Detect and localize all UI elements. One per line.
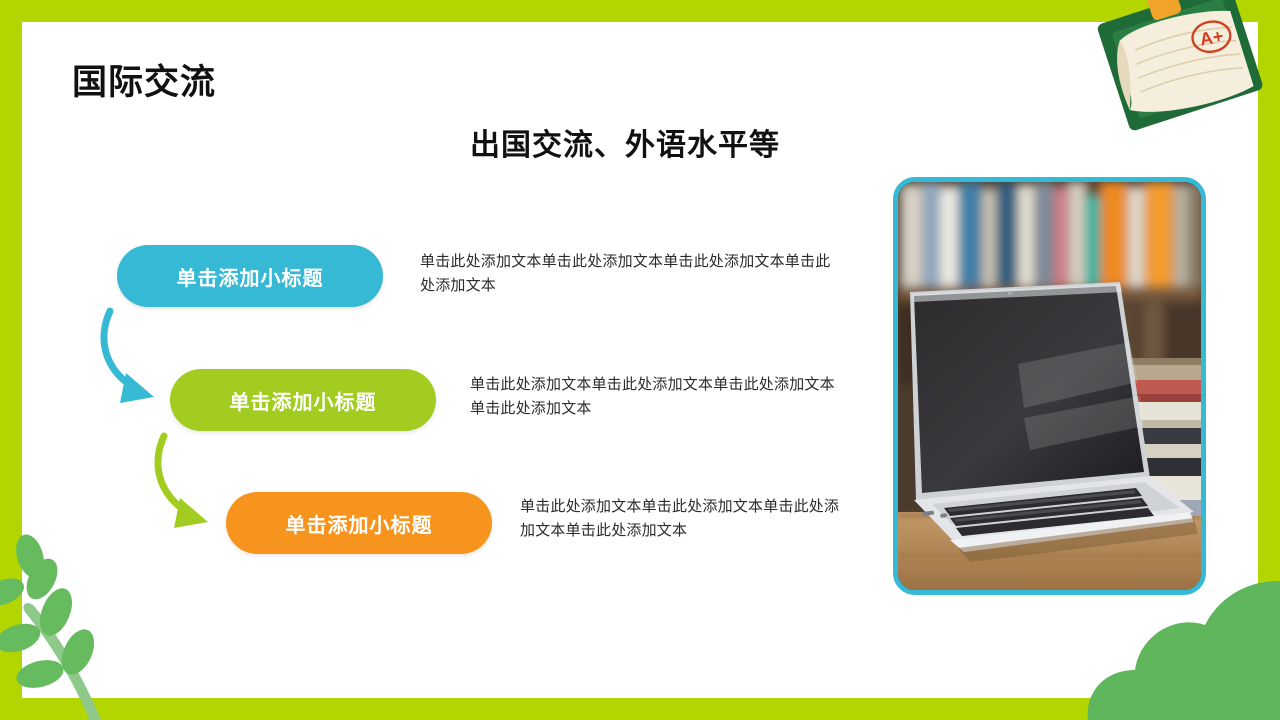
subtitle-pill-2[interactable]: 单击添加小标题 xyxy=(170,369,436,431)
body-text-2: 单击此处添加文本单击此处添加文本单击此处添加文本单击此处添加文本 xyxy=(470,373,845,421)
laptop-on-desk-photo xyxy=(898,182,1201,590)
page-title: 国际交流 xyxy=(72,54,216,105)
subtitle-pill-1-label: 单击添加小标题 xyxy=(177,262,324,291)
subtitle-pill-2-label: 单击添加小标题 xyxy=(230,386,377,415)
subtitle-pill-3-label: 单击添加小标题 xyxy=(286,509,433,538)
section-subtitle: 出国交流、外语水平等 xyxy=(470,120,780,164)
slide-root: A+ 国际交流 出国交流、外语水平等 单击添加小标题 单击此处添加文本单击此处添… xyxy=(0,0,1280,720)
laptop-photo-frame xyxy=(893,177,1206,595)
body-text-3: 单击此处添加文本单击此处添加文本单击此处添加文本单击此处添加文本 xyxy=(520,495,850,543)
subtitle-pill-1[interactable]: 单击添加小标题 xyxy=(117,245,383,307)
subtitle-pill-3[interactable]: 单击添加小标题 xyxy=(226,492,492,554)
body-text-1: 单击此处添加文本单击此处添加文本单击此处添加文本单击此处添加文本 xyxy=(420,250,835,298)
